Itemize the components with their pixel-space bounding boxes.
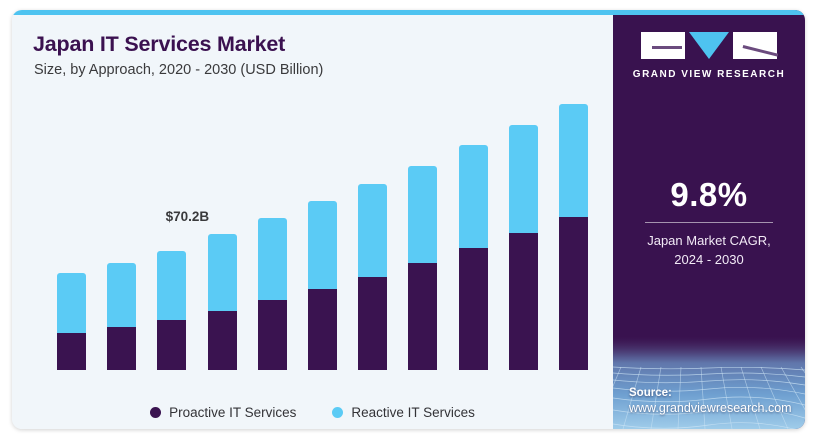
cagr-caption-line1: Japan Market CAGR, bbox=[613, 232, 805, 251]
legend-item-proactive[interactable]: Proactive IT Services bbox=[150, 405, 296, 420]
bar-segment-proactive-2025[interactable] bbox=[308, 289, 337, 370]
legend-swatch-reactive bbox=[332, 407, 343, 418]
legend-swatch-proactive bbox=[150, 407, 161, 418]
mesh-fade-overlay bbox=[613, 337, 805, 363]
bar-segment-reactive-2026[interactable] bbox=[358, 184, 387, 276]
bar-group-2024[interactable] bbox=[258, 218, 287, 370]
bar-segment-reactive-2029[interactable] bbox=[509, 125, 538, 233]
source-label: Source: bbox=[629, 387, 792, 399]
bar-segment-proactive-2026[interactable] bbox=[358, 277, 387, 370]
bar-segment-reactive-2030[interactable] bbox=[559, 104, 588, 218]
bar-value-label-2023: $70.2B bbox=[166, 209, 210, 224]
bar-group-2025[interactable] bbox=[308, 201, 337, 370]
cagr-block: 9.8% Japan Market CAGR, 2024 - 2030 bbox=[613, 178, 805, 270]
bar-segment-proactive-2021[interactable] bbox=[107, 327, 136, 370]
logo-v-icon bbox=[689, 32, 729, 59]
bar-segment-reactive-2027[interactable] bbox=[408, 166, 437, 264]
bar-segment-proactive-2030[interactable] bbox=[559, 217, 588, 370]
bar-segment-reactive-2023[interactable] bbox=[208, 234, 237, 310]
cagr-value: 9.8% bbox=[613, 178, 805, 211]
cagr-divider bbox=[645, 222, 773, 223]
legend-item-reactive[interactable]: Reactive IT Services bbox=[332, 405, 475, 420]
bar-segment-reactive-2021[interactable] bbox=[107, 263, 136, 327]
bar-group-2028[interactable] bbox=[459, 145, 488, 370]
bar-segment-proactive-2023[interactable] bbox=[208, 311, 237, 370]
bar-group-2020[interactable] bbox=[57, 273, 86, 371]
bar-group-2023[interactable] bbox=[208, 234, 237, 370]
bar-group-2030[interactable] bbox=[559, 104, 588, 370]
logo-g-icon bbox=[641, 32, 685, 59]
source-block: Source: www.grandviewresearch.com bbox=[629, 387, 792, 415]
page-title: Japan IT Services Market bbox=[33, 32, 285, 57]
bar-group-2029[interactable] bbox=[509, 125, 538, 370]
brand-logo: GRAND VIEW RESEARCH bbox=[613, 32, 805, 80]
logo-r-icon bbox=[733, 32, 777, 59]
page-subtitle: Size, by Approach, 2020 - 2030 (USD Bill… bbox=[34, 62, 323, 78]
bar-segment-proactive-2027[interactable] bbox=[408, 263, 437, 370]
bar-group-2027[interactable] bbox=[408, 166, 437, 370]
bar-segment-proactive-2029[interactable] bbox=[509, 233, 538, 370]
cagr-caption-line2: 2024 - 2030 bbox=[613, 251, 805, 270]
bar-segment-reactive-2020[interactable] bbox=[57, 273, 86, 334]
bar-segment-reactive-2024[interactable] bbox=[258, 218, 287, 300]
bar-segment-reactive-2028[interactable] bbox=[459, 145, 488, 248]
source-url[interactable]: www.grandviewresearch.com bbox=[629, 401, 792, 415]
logo-marks bbox=[641, 32, 777, 62]
bar-group-2021[interactable] bbox=[107, 263, 136, 370]
bar-segment-proactive-2020[interactable] bbox=[57, 333, 86, 370]
bar-segment-proactive-2028[interactable] bbox=[459, 248, 488, 370]
infographic-card: Japan IT Services Market Size, by Approa… bbox=[12, 10, 805, 429]
bar-segment-reactive-2025[interactable] bbox=[308, 201, 337, 288]
brand-panel: GRAND VIEW RESEARCH 9.8% Japan Market CA… bbox=[613, 10, 805, 429]
legend-label-reactive: Reactive IT Services bbox=[351, 405, 475, 420]
perspective-grid-graphic bbox=[613, 337, 805, 429]
chart-legend: Proactive IT ServicesReactive IT Service… bbox=[12, 405, 613, 420]
bar-segment-proactive-2024[interactable] bbox=[258, 300, 287, 370]
bar-segment-reactive-2022[interactable] bbox=[157, 251, 186, 320]
bar-chart-plot: 2020202120222023202420252026202720282029… bbox=[34, 88, 594, 370]
bar-group-2022[interactable] bbox=[157, 251, 186, 370]
bar-group-2026[interactable] bbox=[358, 184, 387, 370]
legend-label-proactive: Proactive IT Services bbox=[169, 405, 296, 420]
top-accent-bar bbox=[12, 10, 805, 15]
bar-segment-proactive-2022[interactable] bbox=[157, 320, 186, 370]
logo-wordmark: GRAND VIEW RESEARCH bbox=[633, 69, 785, 80]
chart-panel: Japan IT Services Market Size, by Approa… bbox=[12, 10, 613, 429]
